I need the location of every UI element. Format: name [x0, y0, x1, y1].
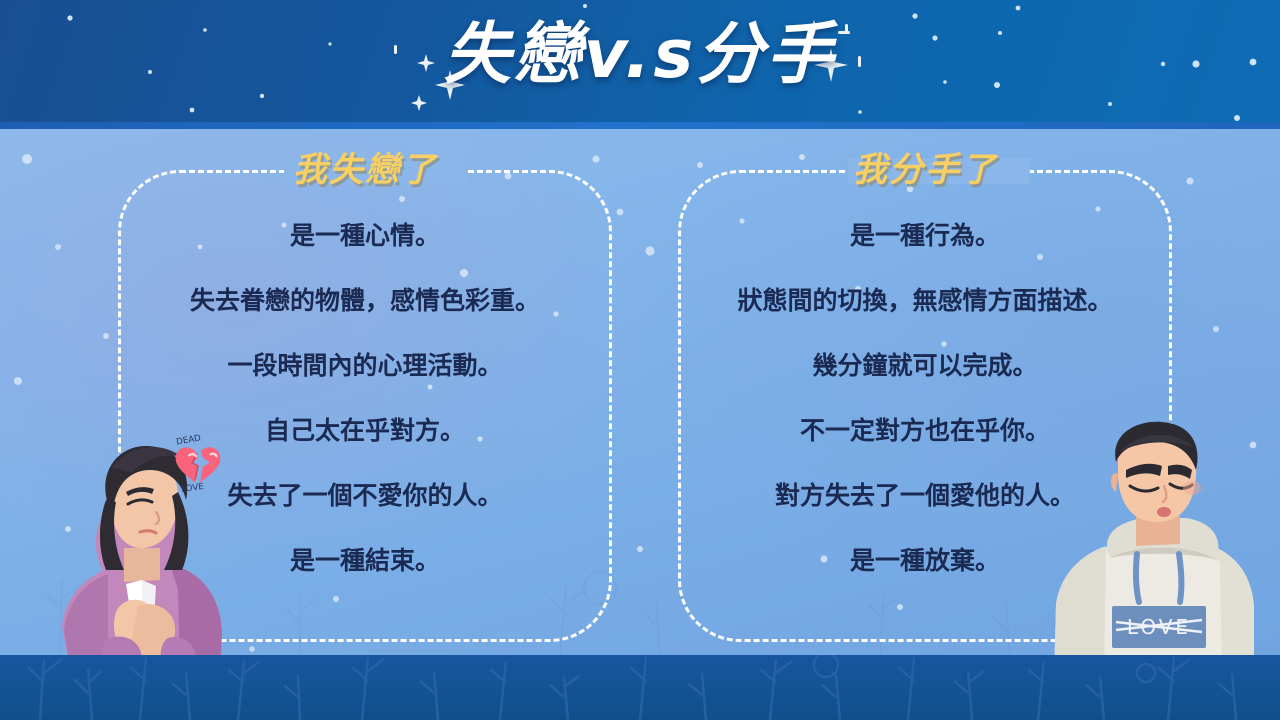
list-item: 幾分鐘就可以完成。 — [688, 346, 1162, 411]
list-item: 失去眷戀的物體，感情色彩重。 — [128, 281, 602, 346]
page-title: 失戀v.s分手 — [0, 13, 1280, 97]
list-item: 一段時間內的心理活動。 — [128, 346, 602, 411]
slide-header: 失戀v.s分手 — [0, 0, 1280, 122]
list-item: 是一種行為。 — [688, 216, 1162, 281]
list-item: 狀態間的切換，無感情方面描述。 — [688, 281, 1162, 346]
panel-breakup-heading: 我分手了 — [678, 142, 1172, 191]
sad-man-illustration: LOVE — [1040, 418, 1270, 680]
bottom-band — [0, 655, 1280, 720]
sticker-dead-label: DEAD — [176, 433, 203, 447]
slide-root: 失戀v.s分手 — [0, 0, 1280, 720]
panel-heartbreak-heading: 我失戀了 — [118, 142, 612, 191]
header-accent-line — [0, 122, 1280, 129]
sticker-love-label: LOVE — [181, 482, 205, 494]
bottom-foliage — [0, 655, 1280, 720]
list-item: 是一種心情。 — [128, 216, 602, 281]
broken-heart-sticker: DEAD LOVE — [168, 432, 230, 494]
